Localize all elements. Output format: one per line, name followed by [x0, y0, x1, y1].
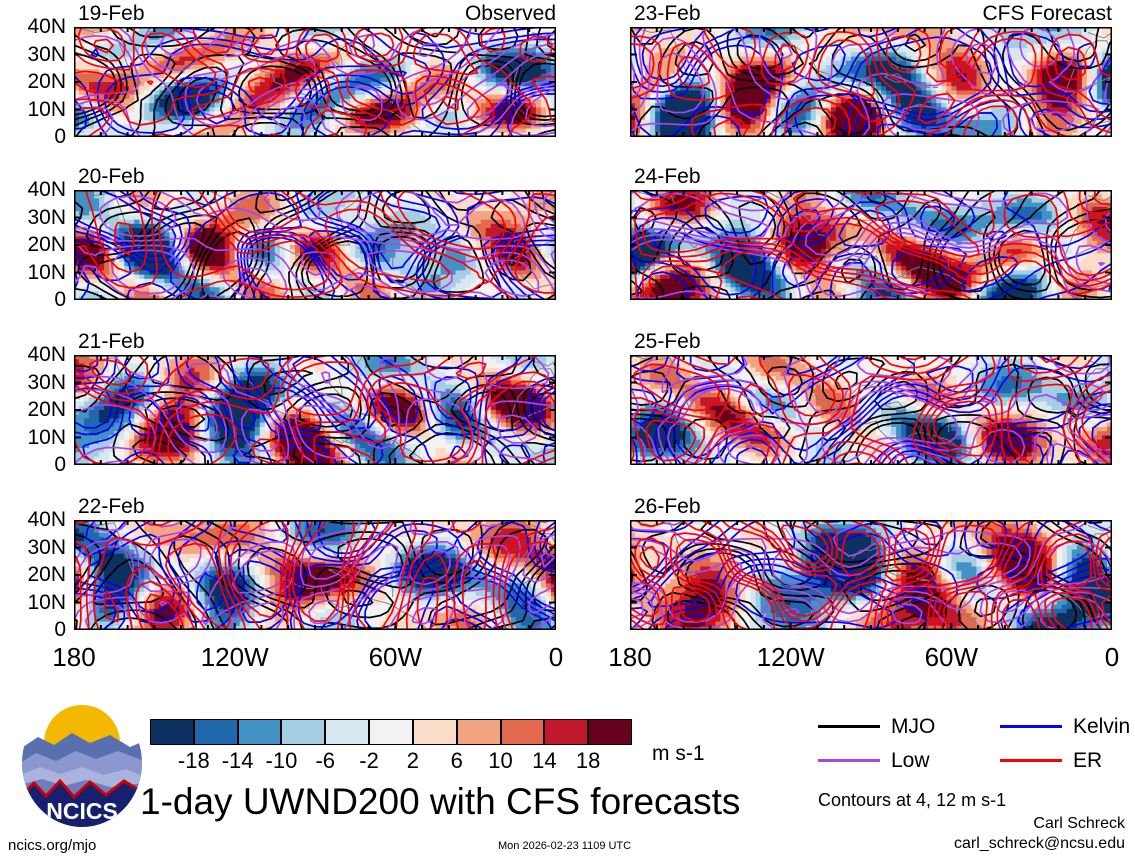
panel-date-label: 25-Feb: [634, 331, 701, 352]
ncics-logo: NCICS: [20, 697, 144, 829]
y-tick-label: 0: [2, 619, 66, 640]
column-header: Observed: [74, 3, 556, 24]
field-map: [74, 27, 556, 137]
y-tick-label: 20N: [2, 234, 66, 255]
y-tick-label: 0: [2, 454, 66, 475]
legend-label: Low: [891, 750, 930, 771]
legend-line-swatch: [818, 759, 880, 762]
colorbar-bin: [457, 719, 501, 745]
legend-label: MJO: [891, 716, 935, 737]
y-tick-label: 20N: [2, 71, 66, 92]
panel-date-label: 24-Feb: [634, 166, 701, 187]
panel-date-label: 22-Feb: [78, 496, 145, 517]
y-tick-label: 0: [2, 289, 66, 310]
legend-item-er: ER: [1000, 750, 1102, 771]
x-tick-label: 60W: [891, 644, 1011, 670]
map-panel-26-feb: 26-Feb: [630, 520, 1112, 630]
colorbar-bin: [194, 719, 238, 745]
y-tick-label: 20N: [2, 564, 66, 585]
colorbar-bin: [413, 719, 457, 745]
footer-site-link[interactable]: ncics.org/mjo: [8, 838, 96, 853]
legend-line-swatch: [1000, 759, 1062, 762]
field-map: [630, 355, 1112, 465]
y-tick-label: 40N: [2, 509, 66, 530]
legend-line-swatch: [1000, 725, 1062, 728]
colorbar-bin: [501, 719, 545, 745]
legend-item-kelvin-x2: Kelvin x2: [1000, 716, 1135, 737]
credit-name: Carl Schreck: [1033, 815, 1125, 833]
colorbar-bin: [544, 719, 588, 745]
y-tick-label: 40N: [2, 179, 66, 200]
map-panel-19-feb: 19-FebObserved40N30N20N10N0: [74, 27, 556, 137]
colorbar: [150, 719, 632, 745]
colorbar-tick-label: 18: [558, 750, 618, 772]
colorbar-bin: [369, 719, 413, 745]
contour-note: Contours at 4, 12 m s-1: [818, 791, 1006, 809]
colorbar-bin: [238, 719, 282, 745]
field-map: [74, 520, 556, 630]
panel-date-label: 26-Feb: [634, 496, 701, 517]
footer-timestamp: Mon 2026-02-23 1109 UTC: [498, 841, 631, 852]
panel-date-label: 20-Feb: [78, 166, 145, 187]
legend-item-mjo: MJO: [818, 716, 935, 737]
column-header: CFS Forecast: [630, 3, 1112, 24]
x-tick-label: 60W: [335, 644, 455, 670]
legend-item-low: Low: [818, 750, 930, 771]
y-tick-label: 30N: [2, 207, 66, 228]
y-tick-label: 30N: [2, 372, 66, 393]
y-tick-label: 30N: [2, 44, 66, 65]
credit-email: carl_schreck@ncsu.edu: [954, 835, 1125, 853]
field-map: [74, 355, 556, 465]
y-tick-label: 40N: [2, 16, 66, 37]
x-tick-label: 0: [1052, 644, 1135, 670]
map-panel-20-feb: 20-Feb40N30N20N10N0: [74, 190, 556, 300]
y-tick-label: 10N: [2, 427, 66, 448]
y-tick-label: 10N: [2, 262, 66, 283]
x-tick-label: 120W: [175, 644, 295, 670]
y-tick-label: 0: [2, 126, 66, 147]
legend-line-swatch: [818, 725, 880, 728]
field-map: [74, 190, 556, 300]
x-tick-label: 120W: [731, 644, 851, 670]
colorbar-bin: [150, 719, 194, 745]
colorbar-bin: [325, 719, 369, 745]
y-tick-label: 40N: [2, 344, 66, 365]
map-panel-24-feb: 24-Feb: [630, 190, 1112, 300]
map-panel-21-feb: 21-Feb40N30N20N10N0: [74, 355, 556, 465]
y-tick-label: 10N: [2, 99, 66, 120]
x-tick-label: 180: [570, 644, 690, 670]
colorbar-bin: [281, 719, 325, 745]
map-panel-22-feb: 22-Feb40N30N20N10N0: [74, 520, 556, 630]
x-tick-label: 180: [14, 644, 134, 670]
map-panel-25-feb: 25-Feb: [630, 355, 1112, 465]
field-map: [630, 520, 1112, 630]
map-panel-23-feb: 23-FebCFS Forecast: [630, 27, 1112, 137]
legend-label: Kelvin x2: [1073, 716, 1135, 737]
field-map: [630, 190, 1112, 300]
y-tick-label: 20N: [2, 399, 66, 420]
colorbar-bin: [588, 719, 632, 745]
panel-date-label: 21-Feb: [78, 331, 145, 352]
legend-label: ER: [1073, 750, 1102, 771]
field-map: [630, 27, 1112, 137]
colorbar-units: m s-1: [652, 743, 705, 764]
y-tick-label: 30N: [2, 537, 66, 558]
main-title: 1-day UWND200 with CFS forecasts: [140, 783, 740, 820]
y-tick-label: 10N: [2, 592, 66, 613]
